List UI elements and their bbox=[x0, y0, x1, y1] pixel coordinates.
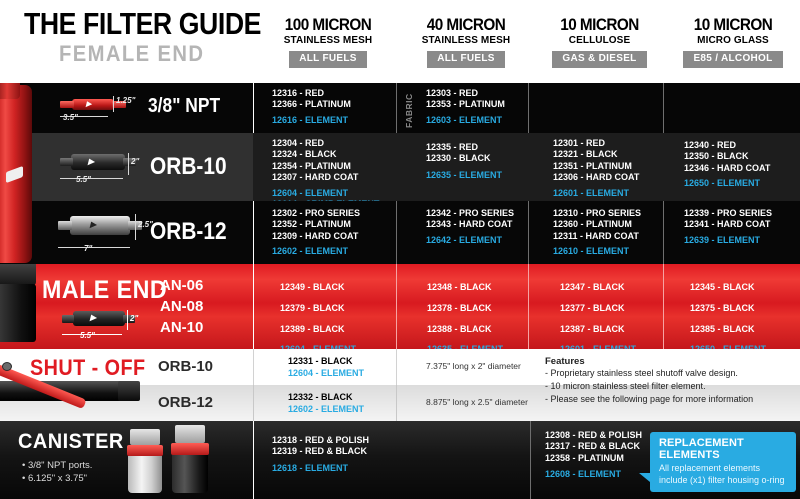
column-badge: ALL FUELS bbox=[427, 51, 505, 68]
column-title: 10 MICRON bbox=[675, 16, 792, 33]
part-number: 12387 - BLACK bbox=[560, 319, 680, 340]
inline-filter-image-orb10: ▶ bbox=[60, 151, 136, 173]
part-number: 12340 - RED bbox=[684, 140, 794, 151]
row-label-orb-12: ORB-12 bbox=[150, 218, 227, 246]
part-number: 12351 - PLATINUM bbox=[553, 161, 663, 172]
part-number: 12378 - BLACK bbox=[427, 298, 547, 319]
feature-item: - Please see the following page for more… bbox=[545, 393, 795, 406]
canister-bullet: • 3/8" NPT ports. bbox=[22, 459, 92, 472]
part-number: 12349 - BLACK bbox=[280, 277, 410, 298]
cell-38npt-40micron: 12303 - RED 12353 - PLATINUM 12603 - ELE… bbox=[426, 83, 526, 133]
row-label-an-06: AN-06 bbox=[160, 277, 203, 294]
part-number: 12352 - PLATINUM bbox=[272, 219, 402, 230]
part-number: 12339 - PRO SERIES bbox=[684, 208, 794, 219]
cell-male-40micron: 12348 - BLACK 12378 - BLACK 12388 - BLAC… bbox=[427, 264, 547, 349]
part-number: 12377 - BLACK bbox=[560, 298, 680, 319]
part-number: 12379 - BLACK bbox=[280, 298, 410, 319]
row-orb-12: ▶ 7" 2.5" ORB-12 12302 - PRO SERIES 1235… bbox=[0, 201, 800, 264]
dimension-diameter-38npt: 1.25" bbox=[116, 96, 135, 105]
part-number: 12331 - BLACK bbox=[288, 355, 418, 367]
row-label-an-10: AN-10 bbox=[160, 319, 203, 336]
part-number: 12316 - RED bbox=[272, 88, 392, 99]
column-subtitle: CELLULOSE bbox=[533, 34, 666, 47]
part-number: 12306 - HARD COAT bbox=[553, 172, 663, 183]
row-label-orb-10: ORB-10 bbox=[150, 153, 227, 181]
canister-bullet: • 6.125" x 3.75" bbox=[22, 472, 87, 485]
inline-filter-image-male: ▶ bbox=[62, 308, 136, 328]
column-title: 10 MICRON bbox=[540, 16, 660, 33]
part-number-element: 12635 - ELEMENT bbox=[426, 170, 536, 181]
part-number: 12348 - BLACK bbox=[427, 277, 547, 298]
part-number: 12321 - BLACK bbox=[553, 149, 663, 160]
cell-38npt-10micron-cellulose bbox=[553, 83, 653, 133]
replacement-elements-callout: REPLACEMENT ELEMENTS All replacement ele… bbox=[650, 432, 796, 492]
column-badge: E85 / ALCOHOL bbox=[683, 51, 782, 68]
section-male-end: MALE END ▶ 5.5" 2" AN-06 AN-08 AN-10 123… bbox=[0, 264, 800, 349]
cell-orb10-10micron-microglass: 12340 - RED 12350 - BLACK 12346 - HARD C… bbox=[684, 133, 794, 201]
column-subtitle: MICRO GLASS bbox=[668, 34, 798, 47]
dimension-length-38npt: 3.5" bbox=[63, 113, 78, 122]
inline-filter-image-orb12: ▶ bbox=[58, 213, 143, 239]
part-number-element: 12618 - ELEMENT bbox=[272, 463, 422, 474]
shutoff-valve-image bbox=[0, 357, 150, 420]
cell-orb12-10micron-cellulose: 12310 - PRO SERIES 12360 - PLATINUM 1231… bbox=[553, 201, 663, 264]
part-number: 12309 - HARD COAT bbox=[272, 231, 402, 242]
part-number: 12389 - BLACK bbox=[280, 319, 410, 340]
part-number-element: 12635 - ELEMENT bbox=[427, 340, 547, 349]
part-number-element: 12650 - ELEMENT bbox=[690, 340, 800, 349]
dimension-length-orb12: 7" bbox=[84, 244, 92, 253]
dimension-diameter-male: 2" bbox=[130, 314, 138, 323]
part-number-element: 12639 - ELEMENT bbox=[684, 235, 794, 246]
part-number: 12385 - BLACK bbox=[690, 319, 800, 340]
fabric-tag: FABRIC bbox=[404, 93, 414, 128]
features-title: Features bbox=[545, 356, 795, 367]
part-number: 12341 - HARD COAT bbox=[684, 219, 794, 230]
callout-body: All replacement elements include (x1) fi… bbox=[659, 463, 788, 486]
part-number: 12311 - HARD COAT bbox=[553, 231, 663, 242]
an-fitting-image bbox=[0, 264, 42, 349]
column-title: 100 MICRON bbox=[264, 16, 392, 33]
part-number: 12319 - RED & BLACK bbox=[272, 446, 422, 457]
part-number: 12307 - HARD COAT bbox=[272, 172, 402, 183]
part-number: 12354 - PLATINUM bbox=[272, 161, 402, 172]
part-number: 12347 - BLACK bbox=[560, 277, 680, 298]
dimension-length-male: 5.5" bbox=[80, 331, 95, 340]
part-number-element: 12603 - ELEMENT bbox=[426, 115, 526, 126]
row-38-npt: ▶ 3.5" 1.25" 3/8" NPT FABRIC 12316 - RED… bbox=[0, 83, 800, 133]
section-subtitle-female-end: FEMALE END bbox=[59, 41, 204, 67]
section-title-male-end: MALE END bbox=[42, 276, 167, 305]
part-number: 12375 - BLACK bbox=[690, 298, 800, 319]
column-header-10-micron-micro-glass: 10 MICRON MICRO GLASS E85 / ALCOHOL bbox=[668, 16, 798, 68]
canister-black-image bbox=[168, 425, 212, 495]
features-block: Features - Proprietary stainless steel s… bbox=[545, 356, 795, 406]
row-orb-10: ▶ 5.5" 2" ORB-10 12304 - RED 12324 - BLA… bbox=[0, 133, 800, 201]
cell-shutoff-orb12-parts: 12332 - BLACK 12602 - ELEMENT bbox=[288, 385, 418, 421]
part-number: 12330 - BLACK bbox=[426, 153, 536, 164]
part-number: 12302 - PRO SERIES bbox=[272, 208, 402, 219]
page-title: THE FILTER GUIDE bbox=[24, 6, 261, 42]
part-number: 12350 - BLACK bbox=[684, 151, 794, 162]
column-header-40-micron: 40 MICRON STAINLESS MESH ALL FUELS bbox=[401, 16, 531, 68]
column-badge: GAS & DIESEL bbox=[552, 51, 646, 68]
shutoff-orb10-dimension-note: 7.375" long x 2" diameter bbox=[426, 361, 521, 371]
section-title-canister: CANISTER bbox=[18, 430, 124, 454]
row-label-an-08: AN-08 bbox=[160, 298, 203, 315]
part-number-element: 12604 - ELEMENT bbox=[272, 188, 402, 199]
column-header-100-micron: 100 MICRON STAINLESS MESH ALL FUELS bbox=[257, 16, 399, 68]
feature-item: - 10 micron stainless steel filter eleme… bbox=[545, 380, 795, 393]
dimension-length-orb10: 5.5" bbox=[76, 175, 91, 184]
cell-male-10micron-microglass: 12345 - BLACK 12375 - BLACK 12385 - BLAC… bbox=[690, 264, 800, 349]
column-title: 40 MICRON bbox=[408, 16, 525, 33]
column-subtitle: STAINLESS MESH bbox=[401, 34, 531, 47]
part-number-element: 12601 - ELEMENT bbox=[553, 188, 663, 199]
part-number-element: 12601 - ELEMENT bbox=[560, 340, 680, 349]
part-number: 12343 - HARD COAT bbox=[426, 219, 536, 230]
cell-male-100micron: 12349 - BLACK 12379 - BLACK 12389 - BLAC… bbox=[280, 264, 410, 349]
part-number: 12366 - PLATINUM bbox=[272, 99, 392, 110]
callout-title: REPLACEMENT ELEMENTS bbox=[659, 437, 788, 461]
filter-guide-page: THE FILTER GUIDE FEMALE END 100 MICRON S… bbox=[0, 0, 800, 499]
part-number-element: 12602 - ELEMENT bbox=[272, 246, 402, 257]
part-number-element: 12616 - ELEMENT bbox=[272, 115, 392, 126]
cell-orb12-100micron: 12302 - PRO SERIES 12352 - PLATINUM 1230… bbox=[272, 201, 402, 264]
cell-shutoff-orb10-parts: 12331 - BLACK 12604 - ELEMENT bbox=[288, 349, 418, 385]
part-number: 12304 - RED bbox=[272, 138, 402, 149]
feature-item: - Proprietary stainless steel shutoff va… bbox=[545, 367, 795, 380]
part-number-element: 12614 - CRIMP ELEMENT bbox=[272, 199, 402, 201]
column-subtitle: STAINLESS MESH bbox=[257, 34, 399, 47]
part-number: 12303 - RED bbox=[426, 88, 526, 99]
cell-orb10-100micron: 12304 - RED 12324 - BLACK 12354 - PLATIN… bbox=[272, 133, 402, 201]
part-number: 12360 - PLATINUM bbox=[553, 219, 663, 230]
part-number: 12353 - PLATINUM bbox=[426, 99, 526, 110]
part-number: 12346 - HARD COAT bbox=[684, 163, 794, 174]
part-number-element: 12650 - ELEMENT bbox=[684, 178, 794, 189]
cell-male-10micron-cellulose: 12347 - BLACK 12377 - BLACK 12387 - BLAC… bbox=[560, 264, 680, 349]
part-number-element: 12604 - ELEMENT bbox=[288, 367, 418, 379]
cell-orb10-10micron-cellulose: 12301 - RED 12321 - BLACK 12351 - PLATIN… bbox=[553, 133, 663, 201]
cell-orb12-10micron-microglass: 12339 - PRO SERIES 12341 - HARD COAT 126… bbox=[684, 201, 794, 264]
part-number-element: 12642 - ELEMENT bbox=[426, 235, 536, 246]
cell-orb10-40micron: 12335 - RED 12330 - BLACK 12635 - ELEMEN… bbox=[426, 133, 536, 201]
shutoff-orb12-dimension-note: 8.875" long x 2.5" diameter bbox=[426, 397, 528, 407]
row-label-shutoff-orb-10: ORB-10 bbox=[158, 358, 213, 375]
part-number: 12345 - BLACK bbox=[690, 277, 800, 298]
dimension-diameter-orb10: 2" bbox=[131, 157, 139, 166]
part-number: 12324 - BLACK bbox=[272, 149, 402, 160]
part-number: 12332 - BLACK bbox=[288, 391, 418, 403]
row-label-shutoff-orb-12: ORB-12 bbox=[158, 394, 213, 411]
column-badge: ALL FUELS bbox=[289, 51, 367, 68]
part-number: 12388 - BLACK bbox=[427, 319, 547, 340]
part-number: 12342 - PRO SERIES bbox=[426, 208, 536, 219]
red-canister-product-image bbox=[0, 83, 40, 265]
column-header-10-micron-cellulose: 10 MICRON CELLULOSE GAS & DIESEL bbox=[533, 16, 666, 68]
section-canister: CANISTER • 3/8" NPT ports. • 6.125" x 3.… bbox=[0, 421, 800, 499]
part-number: 12335 - RED bbox=[426, 142, 536, 153]
part-number-element: 12610 - ELEMENT bbox=[553, 246, 663, 257]
part-number: 12318 - RED & POLISH bbox=[272, 435, 422, 446]
canister-polish-image bbox=[124, 429, 166, 495]
callout-tail bbox=[639, 473, 650, 482]
cell-orb12-40micron: 12342 - PRO SERIES 12343 - HARD COAT 126… bbox=[426, 201, 536, 264]
cell-38npt-100micron: 12316 - RED 12366 - PLATINUM 12616 - ELE… bbox=[272, 83, 392, 133]
part-number: 12310 - PRO SERIES bbox=[553, 208, 663, 219]
part-number-element: 12604 - ELEMENT bbox=[280, 340, 410, 349]
part-number-element: 12602 - ELEMENT bbox=[288, 403, 418, 415]
page-header: THE FILTER GUIDE FEMALE END 100 MICRON S… bbox=[0, 0, 800, 83]
cell-38npt-10micron-microglass bbox=[684, 83, 784, 133]
row-label-38-npt: 3/8" NPT bbox=[148, 95, 220, 118]
cell-canister-100micron: 12318 - RED & POLISH 12319 - RED & BLACK… bbox=[272, 421, 422, 499]
part-number: 12301 - RED bbox=[553, 138, 663, 149]
